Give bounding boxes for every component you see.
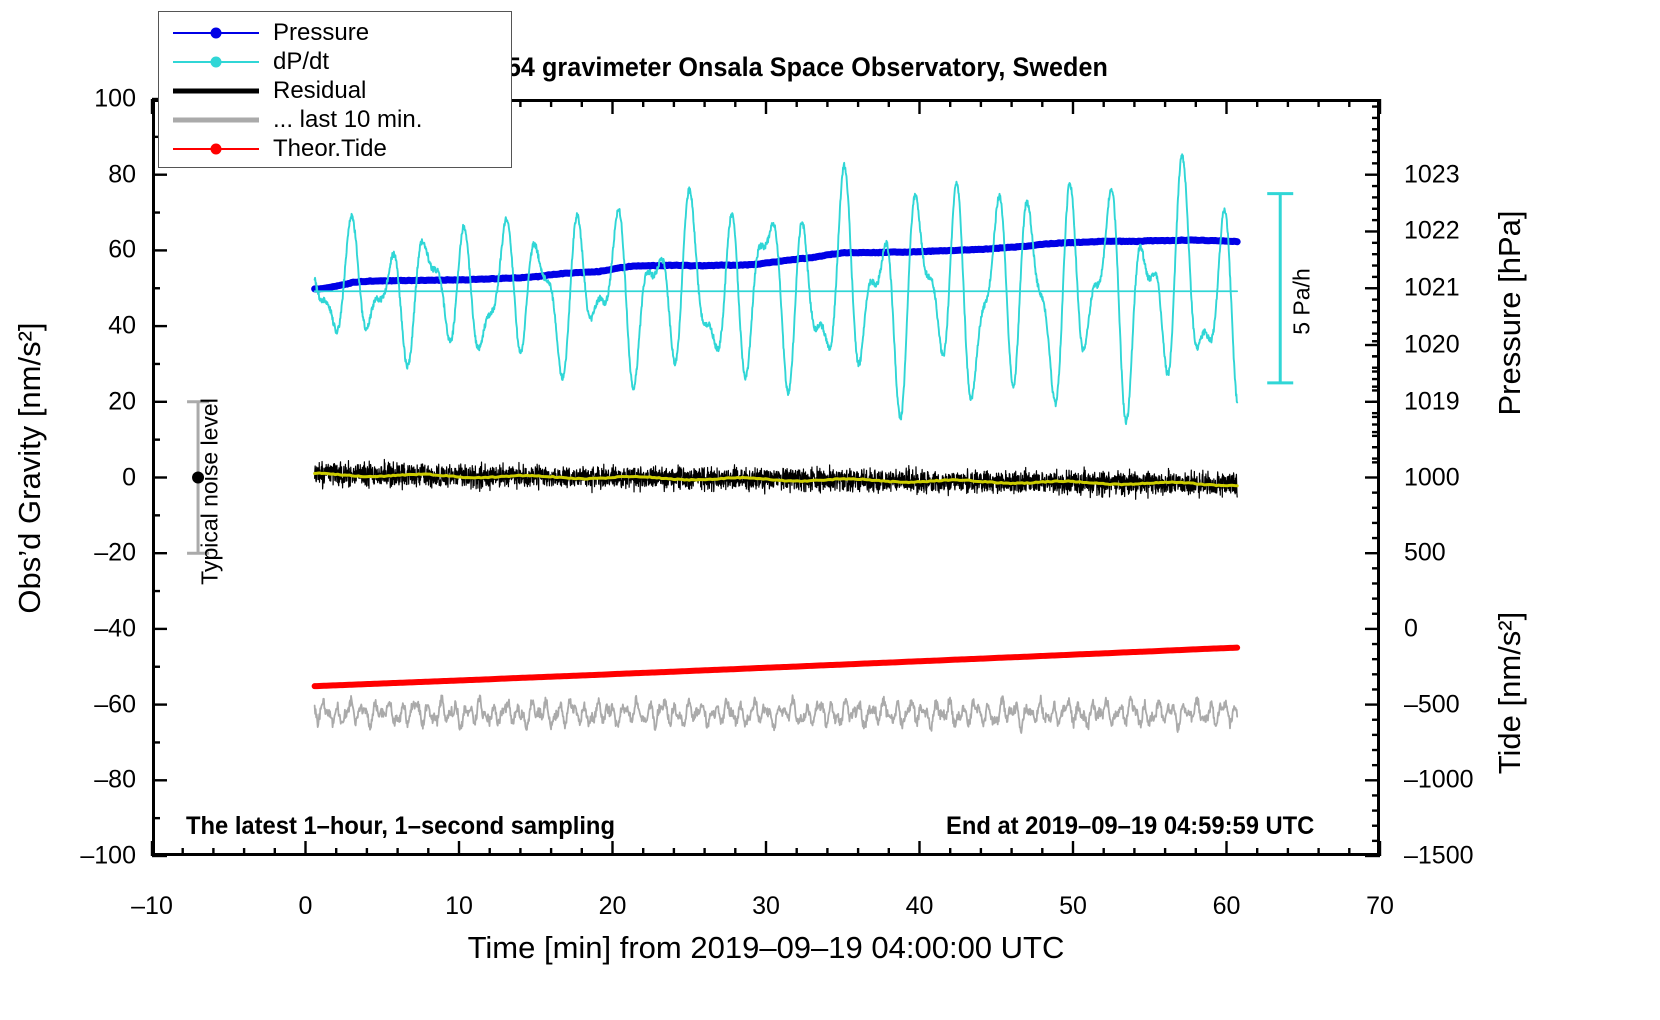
pressure-tick-label: 1021 (1404, 274, 1460, 303)
tide-tick-label: 0 (1404, 614, 1418, 643)
y-tick-label: 100 (94, 85, 136, 114)
x-tick-label: 60 (1213, 892, 1241, 921)
legend-item-pressure[interactable]: Pressure (159, 18, 511, 47)
y-tick-label: –80 (94, 766, 136, 795)
plot-area (152, 99, 1380, 856)
y-tick-label: 40 (108, 312, 136, 341)
legend-swatch-icon (173, 139, 259, 159)
tide-tick-label: –1500 (1404, 842, 1474, 871)
x-tick-label: 50 (1059, 892, 1087, 921)
pressure-tick-label: 1019 (1404, 387, 1460, 416)
legend-item-label: Theor.Tide (259, 135, 387, 163)
typical-noise-level-label: Typical noise level (197, 371, 224, 611)
footer-note-right: End at 2019–09–19 04:59:59 UTC (946, 812, 1314, 841)
legend-item-last-10-min[interactable]: ... last 10 min. (159, 105, 511, 134)
legend-item-residual[interactable]: Residual (159, 76, 511, 105)
pressure-tick-label: 1022 (1404, 217, 1460, 246)
legend-item-label: Pressure (259, 19, 369, 47)
y-axis-label-tide: Tide [nm/s²] (1492, 423, 1528, 963)
legend-item-label: ... last 10 min. (259, 106, 422, 134)
plot-clip (155, 102, 1377, 853)
x-axis-ticklabels: –10010203040506070 (0, 892, 1660, 932)
tide-tick-label: 500 (1404, 539, 1446, 568)
y-tick-label: 60 (108, 236, 136, 265)
x-tick-label: –10 (131, 892, 173, 921)
legend-marker-dot (211, 27, 222, 38)
x-tick-label: 30 (752, 892, 780, 921)
plot-traces (155, 102, 1377, 853)
legend-swatch-icon (173, 81, 259, 101)
tide-tick-label: –1000 (1404, 766, 1474, 795)
y-tick-label: –20 (94, 539, 136, 568)
x-tick-label: 0 (299, 892, 313, 921)
legend-marker-dot (211, 143, 222, 154)
pressure-tick-label: 1023 (1404, 160, 1460, 189)
legend-item-theor-tide[interactable]: Theor.Tide (159, 134, 511, 163)
x-tick-label: 70 (1366, 892, 1394, 921)
y-tick-label: –40 (94, 614, 136, 643)
y-axis-label: Obs’d Gravity [nm/s²] (12, 88, 48, 848)
footer-note-left: The latest 1–hour, 1–second sampling (186, 812, 615, 841)
legend[interactable]: PressuredP/dtResidual... last 10 min.The… (158, 11, 512, 168)
y-tick-label: 20 (108, 387, 136, 416)
y-tick-label: –60 (94, 690, 136, 719)
legend-swatch-icon (173, 52, 259, 72)
x-tick-label: 20 (599, 892, 627, 921)
tide-tick-label: –500 (1404, 690, 1460, 719)
y-axis-right-ticklabels: 10191020102110221023–1500–1000–500050010… (1404, 0, 1554, 1020)
legend-swatch-icon (173, 110, 259, 130)
x-axis-label: Time [min] from 2019–09–19 04:00:00 UTC (152, 930, 1380, 966)
legend-swatch-icon (173, 23, 259, 43)
legend-item-dp-dt[interactable]: dP/dt (159, 47, 511, 76)
y-tick-label: –100 (80, 842, 136, 871)
pressure-scale-bar-label: 5 Pa/h (1289, 192, 1316, 412)
x-tick-label: 40 (906, 892, 934, 921)
legend-item-label: Residual (259, 77, 366, 105)
tide-tick-label: 1000 (1404, 463, 1460, 492)
y-tick-label: 0 (122, 463, 136, 492)
y-tick-label: 80 (108, 160, 136, 189)
x-tick-label: 10 (445, 892, 473, 921)
legend-item-label: dP/dt (259, 48, 329, 76)
legend-marker-dot (211, 56, 222, 67)
pressure-tick-label: 1020 (1404, 331, 1460, 360)
